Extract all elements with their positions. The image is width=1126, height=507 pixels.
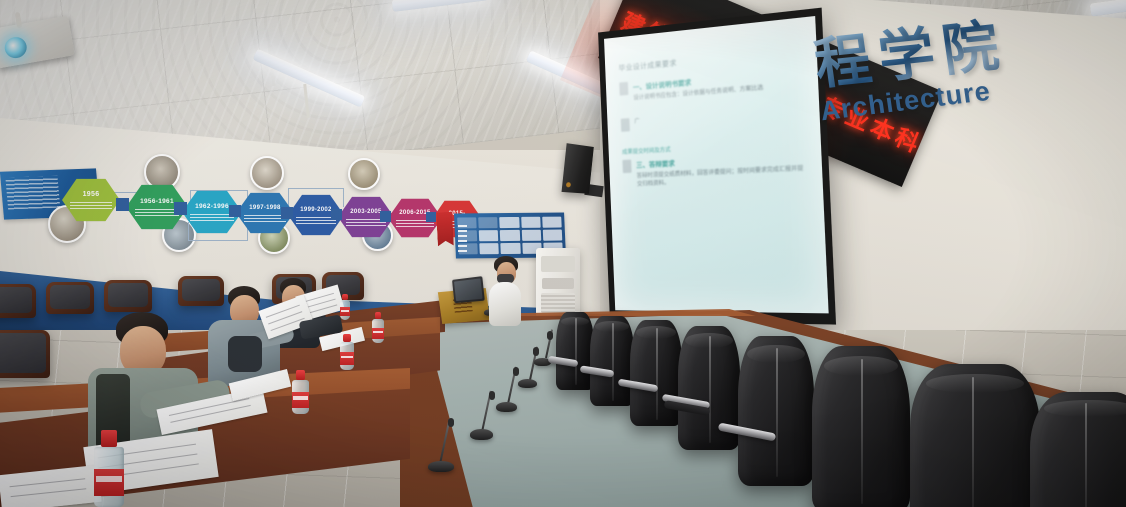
poster-cell <box>521 217 541 228</box>
timeline-square <box>174 202 187 215</box>
chair-seam <box>612 323 614 400</box>
office-chair[interactable] <box>738 336 814 486</box>
timeline-node-desc <box>135 207 180 216</box>
chair-seam <box>575 318 577 385</box>
water-bottle[interactable] <box>372 312 384 343</box>
ac-control-panel[interactable] <box>542 278 574 289</box>
audience-chair[interactable] <box>104 280 152 312</box>
poster-red-ribbon <box>436 212 454 247</box>
bottle-cap <box>342 294 347 300</box>
mic-base <box>518 379 537 388</box>
air-conditioner <box>536 248 580 320</box>
timeline-node-desc <box>70 200 112 209</box>
chair-cushion <box>0 333 46 373</box>
poster-cell <box>501 243 521 254</box>
chair-cushion <box>0 287 32 313</box>
office-chair[interactable] <box>630 320 682 426</box>
paper-line <box>10 478 86 487</box>
timeline-node-desc <box>244 213 286 222</box>
slide-item-number <box>621 118 630 132</box>
chair-seam <box>656 328 658 419</box>
office-chair[interactable] <box>556 312 594 390</box>
projection-screen: 毕业设计成果要求 一、设计说明书要求 设计说明书应包含：设计依据与任务说明、方案… <box>604 16 829 313</box>
poster-cell <box>479 243 499 254</box>
timeline-square <box>229 205 241 217</box>
poster-cell <box>521 230 541 241</box>
chair-seam <box>1085 403 1087 507</box>
poster-cell <box>542 217 562 228</box>
presentation-slide: 毕业设计成果要求 一、设计说明书要求 设计说明书应包含：设计依据与任务说明、方案… <box>604 16 829 313</box>
bottle-label-text <box>96 476 121 482</box>
mic-head-icon <box>547 331 553 340</box>
bottle-label-text <box>341 356 353 359</box>
timeline-photo <box>348 158 380 190</box>
bottle-label-text <box>373 331 383 333</box>
bottle-label <box>340 307 350 316</box>
timeline-node-year: 1962-1996 <box>195 203 229 210</box>
paper-line <box>11 488 87 497</box>
conference-room-photo: 1956 1956-1961 1962-1996 1997-1998 1999-… <box>0 0 1126 507</box>
timeline-photo <box>250 156 284 190</box>
gooseneck-microphone[interactable] <box>470 392 495 440</box>
slide-item-number <box>622 159 631 173</box>
slide-item-text: 广 <box>634 105 801 126</box>
paper-line <box>266 305 301 318</box>
projection-screen-frame: 毕业设计成果要求 一、设计说明书要求 设计说明书应包含：设计依据与任务说明、方案… <box>598 8 836 325</box>
office-chair[interactable] <box>812 346 910 507</box>
ac-grill <box>541 293 575 313</box>
gooseneck-microphone[interactable] <box>496 368 518 412</box>
chair-cushion <box>108 283 148 307</box>
ac-vent <box>541 256 575 272</box>
bottle-label <box>372 328 384 339</box>
poster-cell <box>500 230 520 241</box>
timeline-square <box>281 207 293 219</box>
audience-chair[interactable] <box>46 282 94 314</box>
office-chair[interactable] <box>1030 392 1126 507</box>
chair-seam <box>776 348 778 477</box>
timeline-node-year: 1956-1961 <box>140 198 174 205</box>
office-chair[interactable] <box>590 316 634 406</box>
timeline-intro-text <box>5 176 60 210</box>
poster-cell <box>479 230 499 241</box>
bottle-label <box>340 352 354 365</box>
timeline-node-desc <box>190 212 233 221</box>
gooseneck-microphone[interactable] <box>428 420 456 472</box>
slide-item-body: 三、答辩要求 答辩时须提交纸质材料，回答评委提问；按时间要求完成汇报并提交归档资… <box>636 150 805 189</box>
torso <box>489 282 521 326</box>
poster-title-text <box>458 222 467 252</box>
paper-line <box>301 293 333 303</box>
bottle-cap <box>101 430 117 447</box>
slide-item-text: 答辩时须提交纸质材料，回答评委提问；按时间要求完成汇报并提交归档资料。 <box>636 164 804 189</box>
timeline-node-year: 1956 <box>83 191 100 198</box>
office-chair[interactable] <box>910 364 1040 507</box>
mic-base <box>496 402 517 412</box>
bottle-cap <box>296 370 305 380</box>
timeline-photo <box>144 154 180 190</box>
audience-chair[interactable] <box>0 330 50 378</box>
timeline-square <box>331 209 342 220</box>
slide-item: 三、答辩要求 答辩时须提交纸质材料，回答评委提问；按时间要求完成汇报并提交归档资… <box>622 150 804 190</box>
chair-cushion <box>50 285 90 309</box>
mic-head-icon <box>448 418 454 427</box>
timeline-node-year: 2003-2005 <box>350 209 381 215</box>
water-bottle[interactable] <box>292 370 309 414</box>
bottle-label <box>94 469 124 497</box>
bottle-label-text <box>293 396 307 399</box>
chair-seam <box>861 359 863 503</box>
timeline-node-year: 1997-1998 <box>249 205 280 211</box>
mic-head-icon <box>489 391 495 400</box>
poster-cell <box>478 217 498 228</box>
water-bottle[interactable] <box>94 430 124 507</box>
laptop-screen <box>454 278 483 301</box>
history-timeline-wall-graphic: 1956 1956-1961 1962-1996 1997-1998 1999-… <box>0 160 480 280</box>
person-presenter <box>486 256 528 326</box>
audience-chair[interactable] <box>0 284 36 318</box>
slide-item: 广 <box>621 105 802 131</box>
water-bottle[interactable] <box>340 294 350 320</box>
chair-seam <box>972 377 974 507</box>
laptop[interactable] <box>452 276 485 303</box>
chair-seam <box>709 336 711 443</box>
poster-cell <box>543 230 563 241</box>
slide-item: 一、设计说明书要求 设计说明书应包含：设计依据与任务说明、方案比选 <box>619 67 800 104</box>
timeline-square <box>426 212 436 222</box>
bottle-cap <box>375 312 381 319</box>
timeline-square <box>380 211 391 222</box>
mic-base <box>470 429 493 440</box>
slide-item-body: 广 <box>634 105 801 126</box>
speaker-logo-icon <box>566 182 571 187</box>
wall-speaker <box>562 143 594 194</box>
water-bottle[interactable] <box>340 334 354 370</box>
bottle-cap <box>343 334 350 342</box>
slide-item-number <box>619 82 628 96</box>
wall-sign: 程学院 Architecture <box>806 6 1106 156</box>
timeline-node-year: 1999-2002 <box>300 207 331 213</box>
timeline-square <box>116 198 129 211</box>
mic-base <box>428 461 454 472</box>
bottle-label <box>292 392 309 408</box>
poster-cell <box>500 217 520 228</box>
slide-item-body: 一、设计说明书要求 设计说明书应包含：设计依据与任务说明、方案比选 <box>633 67 801 103</box>
projector-lens-icon <box>3 35 28 60</box>
bottle-label-text <box>341 310 349 312</box>
